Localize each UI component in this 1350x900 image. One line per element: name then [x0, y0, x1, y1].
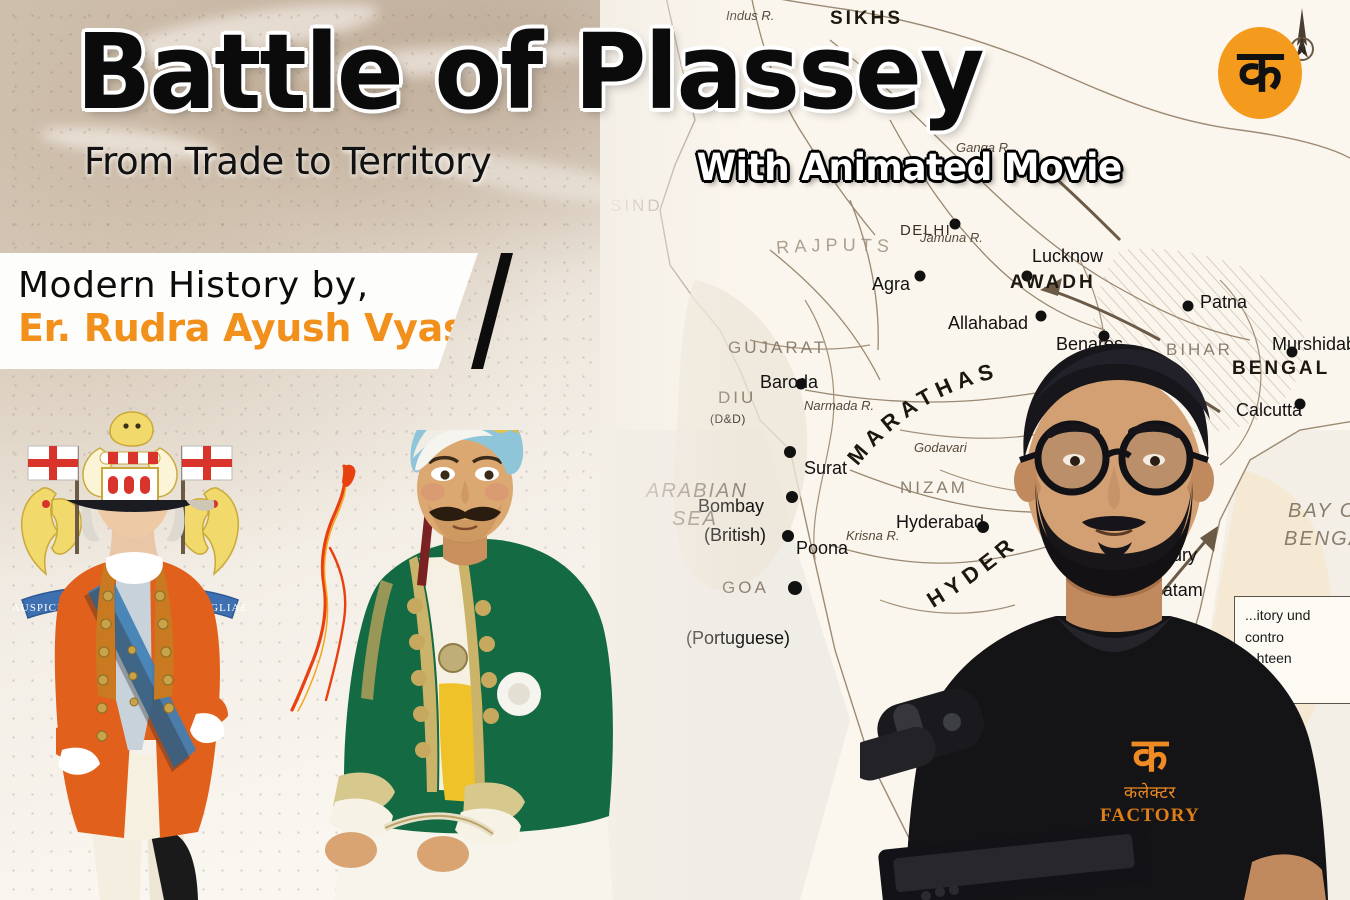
svg-text:RAJPUTS: RAJPUTS [775, 235, 894, 258]
page-title: Battle of Plassey [76, 22, 983, 124]
robert-clive-portrait [0, 500, 270, 900]
map-region-d-d: (D&D) [710, 412, 746, 426]
map-sea-arabian: ARABIAN [646, 480, 748, 503]
svg-text:N: N [1298, 45, 1306, 57]
map-sea-sea: SEA [672, 508, 718, 531]
st-george-flag-left [28, 446, 78, 480]
map-region-sind: SIND [610, 196, 663, 216]
author-prefix: Modern History by, [18, 266, 490, 306]
channel-logo-badge[interactable]: क [1218, 27, 1302, 119]
author-name: Er. Rudra Ayush Vyas [18, 308, 490, 350]
presenter-photo [860, 330, 1350, 900]
logo-devanagari-ka: क [1238, 42, 1283, 100]
page-subtitle: From Trade to Territory [84, 140, 491, 183]
st-george-flag-right [182, 446, 232, 480]
orange-paint-splash [286, 462, 396, 712]
thumbnail-canvas: MARATHAS HYDER RAJPUTS DELHIAgraAllahaba… [0, 0, 1350, 900]
animated-movie-badge: With Animated Movie [697, 146, 1122, 189]
author-banner: Modern History by, Er. Rudra Ayush Vyas [0, 253, 490, 369]
